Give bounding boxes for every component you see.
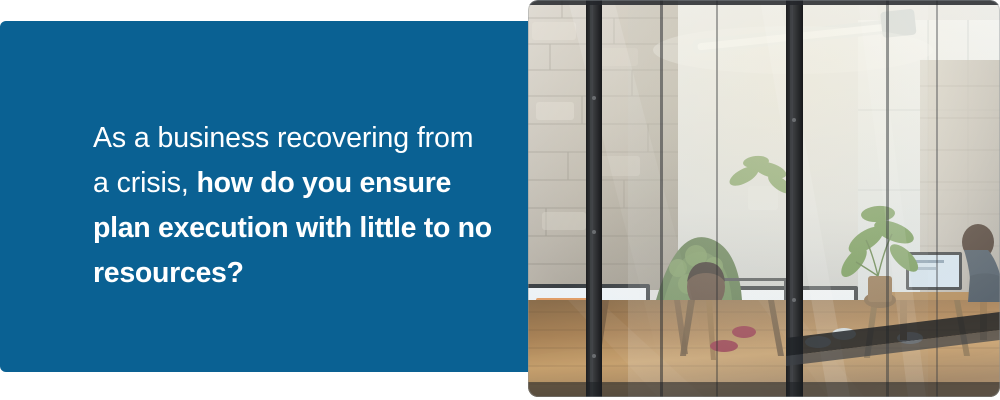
promo-banner: As a business recovering from a crisis, … <box>0 0 1000 400</box>
headline: As a business recovering from a crisis, … <box>93 116 493 296</box>
office-meeting-photo <box>528 0 1000 397</box>
